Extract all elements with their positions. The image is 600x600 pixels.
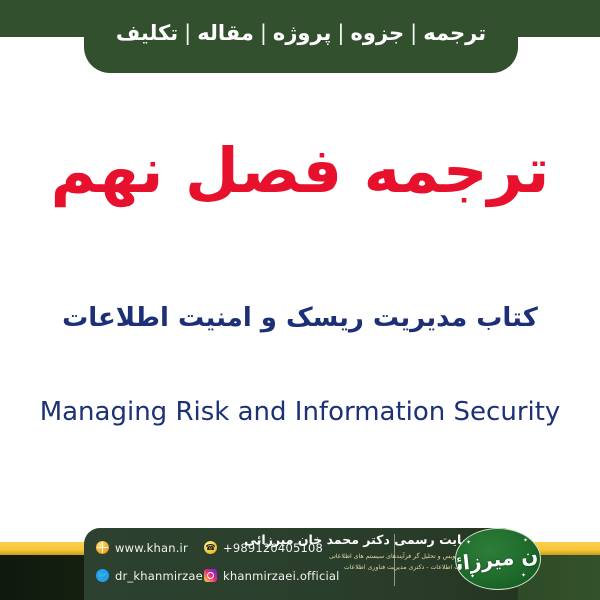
logo-star-icon: ✦: [466, 539, 471, 546]
brand-block: سایت رسمی دکتر محمد خان میرزائی سناریونو…: [300, 532, 480, 588]
header-separator: |: [404, 21, 423, 45]
brand-title: سایت رسمی دکتر محمد خان میرزائی: [300, 532, 480, 547]
page-title: ترجمه فصل نهم: [0, 135, 600, 206]
twitter-icon: 🐦: [96, 569, 109, 582]
whatsapp-phone-icon: ☎: [204, 541, 217, 554]
header-item-jozveh[interactable]: جزوه: [351, 21, 405, 45]
header-separator: |: [331, 21, 350, 45]
logo-star-icon: ✦: [523, 537, 528, 544]
main-content: ترجمه فصل نهم کتاب مدیریت ریسک و امنیت ا…: [0, 80, 600, 535]
brand-subtitle-line1: سناریونویس و تحلیل گر فرآیندهای سیستم ها…: [300, 552, 480, 562]
header: ترجمه | جزوه | پروژه | مقاله | تکلیف: [0, 0, 600, 80]
header-item-maghaleh[interactable]: مقاله: [197, 21, 254, 45]
book-title-farsi: کتاب مدیریت ریسک و امنیت اطلاعات: [0, 302, 600, 336]
logo-oval-icon: خان میرزائی ✦ ✦ ✦ ✦: [455, 528, 541, 590]
header-menu: ترجمه | جزوه | پروژه | مقاله | تکلیف: [84, 0, 518, 73]
header-item-taklif[interactable]: تکلیف: [116, 21, 178, 45]
brand-subtitle-line2: و امنیت اطلاعات - دکتری مدیریت فناوری اط…: [300, 563, 480, 573]
header-separator: |: [254, 21, 273, 45]
logo-star-icon: ✦: [521, 572, 526, 579]
poster-page: ترجمه | جزوه | پروژه | مقاله | تکلیف ترج…: [0, 0, 600, 600]
logo-calligraphy-text: خان میرزائی: [455, 541, 541, 578]
header-separator: |: [178, 21, 197, 45]
header-item-porozheh[interactable]: پروژه: [273, 21, 332, 45]
book-title-english: Managing Risk and Information Security: [0, 396, 600, 430]
logo-star-icon: ✦: [470, 573, 475, 580]
contact-website-label: www.khan.ir: [115, 541, 188, 555]
header-item-tarjomeh[interactable]: ترجمه: [423, 21, 486, 45]
globe-website-icon: [96, 541, 109, 554]
instagram-icon: [204, 569, 217, 582]
brand-logo: خان میرزائی ✦ ✦ ✦ ✦: [455, 524, 541, 592]
contact-twitter-label: dr_khanmirzaei: [115, 569, 206, 583]
